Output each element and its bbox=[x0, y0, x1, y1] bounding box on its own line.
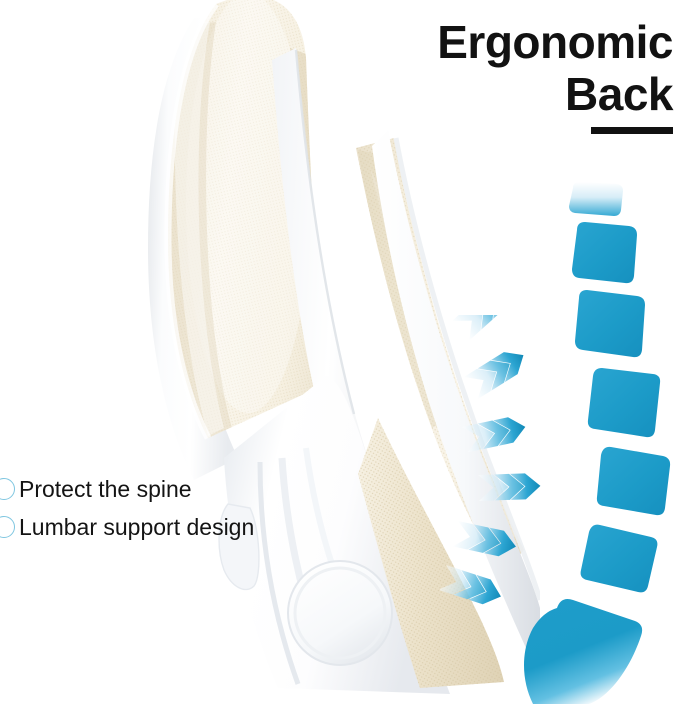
heading-line-1: Ergonomic bbox=[343, 16, 673, 68]
sacrum bbox=[524, 599, 642, 704]
heading-line-2: Back bbox=[343, 68, 673, 120]
feature-label: Lumbar support design bbox=[19, 514, 254, 540]
spine-illustration bbox=[515, 180, 679, 705]
vertebra-2 bbox=[572, 222, 637, 283]
vertebra-6 bbox=[581, 525, 658, 593]
vertebra-1 bbox=[569, 182, 623, 216]
page-title: Ergonomic Back bbox=[343, 16, 673, 134]
vertebra-3 bbox=[575, 290, 645, 357]
vertebra-4 bbox=[588, 368, 660, 437]
product-feature-banner: Ergonomic Back Protect the spine Lumbar … bbox=[0, 0, 679, 705]
chair-pivot-knob bbox=[288, 561, 392, 665]
feature-label: Protect the spine bbox=[19, 476, 192, 502]
feature-list: Protect the spine Lumbar support design bbox=[0, 470, 323, 546]
chevron-row-1 bbox=[452, 315, 515, 340]
spine-svg bbox=[515, 180, 679, 705]
list-item: Protect the spine bbox=[0, 470, 323, 508]
circle-outline-icon bbox=[0, 516, 15, 538]
heading-underline-rule bbox=[591, 127, 673, 134]
vertebra-5 bbox=[597, 447, 670, 515]
list-item: Lumbar support design bbox=[0, 508, 323, 546]
circle-outline-icon bbox=[0, 478, 15, 500]
chevron-row-5 bbox=[453, 521, 519, 559]
chevron-row-6 bbox=[440, 565, 505, 609]
